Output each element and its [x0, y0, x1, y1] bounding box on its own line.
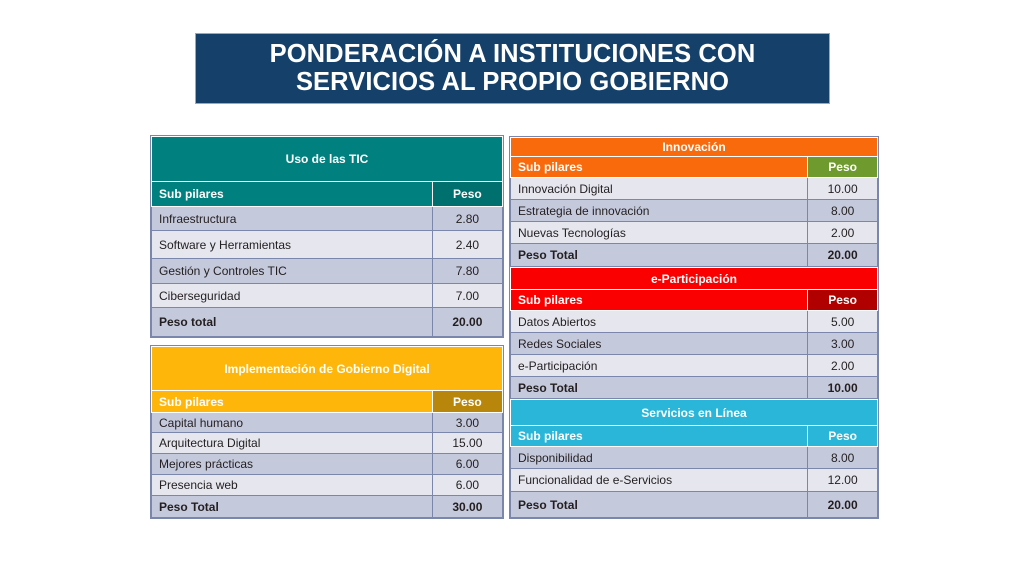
row-label: Infraestructura [152, 207, 433, 231]
row-value: 5.00 [808, 311, 878, 333]
row-value: 3.00 [432, 413, 502, 433]
row-label: Gestión y Controles TIC [152, 259, 433, 284]
row-label: Capital humano [152, 413, 433, 433]
table-title: Implementación de Gobierno Digital [152, 347, 503, 391]
column-header-peso: Peso [432, 182, 502, 207]
row-value: 15.00 [432, 433, 502, 454]
row-value: 6.00 [432, 475, 502, 496]
row-label: e-Participación [511, 355, 808, 377]
total-label: Peso Total [511, 492, 808, 518]
table-title-row: Implementación de Gobierno Digital [152, 347, 503, 391]
table: e-Participación Sub pilares Peso Datos A… [510, 267, 878, 400]
table-header-row: Sub pilares Peso [152, 391, 503, 413]
table-title-row: Servicios en Línea [511, 400, 878, 426]
table-row: Disponibilidad 8.00 [511, 447, 878, 469]
table-title-row: Innovación [511, 138, 878, 157]
table-title: Servicios en Línea [511, 400, 878, 426]
page-title: PONDERACIÓN A INSTITUCIONES CON SERVICIO… [264, 41, 762, 96]
table-implementacion-gobierno-digital: Implementación de Gobierno Digital Sub p… [150, 345, 504, 519]
row-label: Estrategia de innovación [511, 200, 808, 222]
total-label: Peso Total [152, 496, 433, 518]
table-uso-de-las-tic: Uso de las TIC Sub pilares Peso Infraest… [150, 135, 504, 338]
column-header-peso: Peso [808, 290, 878, 311]
row-value: 8.00 [808, 447, 878, 469]
table-total-row: Peso total 20.00 [152, 308, 503, 337]
table-row: Funcionalidad de e-Servicios 12.00 [511, 469, 878, 492]
table-servicios-en-linea: Servicios en Línea Sub pilares Peso Disp… [509, 398, 879, 519]
row-label: Redes Sociales [511, 333, 808, 355]
row-value: 3.00 [808, 333, 878, 355]
row-label: Datos Abiertos [511, 311, 808, 333]
table-total-row: Peso Total 10.00 [511, 377, 878, 400]
total-value: 20.00 [432, 308, 502, 337]
table-row: Estrategia de innovación 8.00 [511, 200, 878, 222]
table-title-row: Uso de las TIC [152, 137, 503, 182]
column-header-subpilares: Sub pilares [511, 157, 808, 178]
row-value: 6.00 [432, 454, 502, 475]
table: Implementación de Gobierno Digital Sub p… [151, 346, 503, 518]
row-value: 7.80 [432, 259, 502, 284]
total-label: Peso Total [511, 377, 808, 400]
table-title: e-Participación [511, 268, 878, 290]
column-header-subpilares: Sub pilares [152, 182, 433, 207]
row-value: 2.80 [432, 207, 502, 231]
table-row: Gestión y Controles TIC 7.80 [152, 259, 503, 284]
table-row: Arquitectura Digital 15.00 [152, 433, 503, 454]
row-label: Arquitectura Digital [152, 433, 433, 454]
table-row: Infraestructura 2.80 [152, 207, 503, 231]
total-value: 30.00 [432, 496, 502, 518]
table-row: Nuevas Tecnologías 2.00 [511, 222, 878, 244]
row-label: Mejores prácticas [152, 454, 433, 475]
table-header-row: Sub pilares Peso [511, 426, 878, 447]
slide-title-banner: PONDERACIÓN A INSTITUCIONES CON SERVICIO… [195, 33, 830, 104]
row-label: Funcionalidad de e-Servicios [511, 469, 808, 492]
row-label: Disponibilidad [511, 447, 808, 469]
row-value: 2.00 [808, 355, 878, 377]
table-row: Presencia web 6.00 [152, 475, 503, 496]
table-header-row: Sub pilares Peso [511, 290, 878, 311]
table-header-row: Sub pilares Peso [511, 157, 878, 178]
column-header-subpilares: Sub pilares [511, 290, 808, 311]
table-row: Innovación Digital 10.00 [511, 178, 878, 200]
table: Innovación Sub pilares Peso Innovación D… [510, 137, 878, 267]
table-row: Software y Herramientas 2.40 [152, 231, 503, 259]
table-row: Capital humano 3.00 [152, 413, 503, 433]
row-value: 2.40 [432, 231, 502, 259]
row-label: Innovación Digital [511, 178, 808, 200]
column-header-peso: Peso [432, 391, 502, 413]
row-label: Nuevas Tecnologías [511, 222, 808, 244]
row-value: 10.00 [808, 178, 878, 200]
row-value: 8.00 [808, 200, 878, 222]
table: Uso de las TIC Sub pilares Peso Infraest… [151, 136, 503, 337]
table-total-row: Peso Total 20.00 [511, 492, 878, 518]
table-row: Redes Sociales 3.00 [511, 333, 878, 355]
column-header-subpilares: Sub pilares [511, 426, 808, 447]
table: Servicios en Línea Sub pilares Peso Disp… [510, 399, 878, 518]
table-row: Mejores prácticas 6.00 [152, 454, 503, 475]
row-value: 7.00 [432, 284, 502, 308]
total-value: 10.00 [808, 377, 878, 400]
table-total-row: Peso Total 20.00 [511, 244, 878, 267]
row-label: Ciberseguridad [152, 284, 433, 308]
total-value: 20.00 [808, 244, 878, 267]
table-row: Datos Abiertos 5.00 [511, 311, 878, 333]
table-e-participacion: e-Participación Sub pilares Peso Datos A… [509, 266, 879, 401]
total-label: Peso Total [511, 244, 808, 267]
column-header-peso: Peso [808, 157, 878, 178]
table-row: e-Participación 2.00 [511, 355, 878, 377]
table-title-row: e-Participación [511, 268, 878, 290]
table-title: Uso de las TIC [152, 137, 503, 182]
total-value: 20.00 [808, 492, 878, 518]
row-label: Presencia web [152, 475, 433, 496]
row-label: Software y Herramientas [152, 231, 433, 259]
table-header-row: Sub pilares Peso [152, 182, 503, 207]
row-value: 2.00 [808, 222, 878, 244]
table-total-row: Peso Total 30.00 [152, 496, 503, 518]
row-value: 12.00 [808, 469, 878, 492]
column-header-peso: Peso [808, 426, 878, 447]
table-row: Ciberseguridad 7.00 [152, 284, 503, 308]
total-label: Peso total [152, 308, 433, 337]
table-innovacion: Innovación Sub pilares Peso Innovación D… [509, 136, 879, 268]
table-title: Innovación [511, 138, 878, 157]
column-header-subpilares: Sub pilares [152, 391, 433, 413]
